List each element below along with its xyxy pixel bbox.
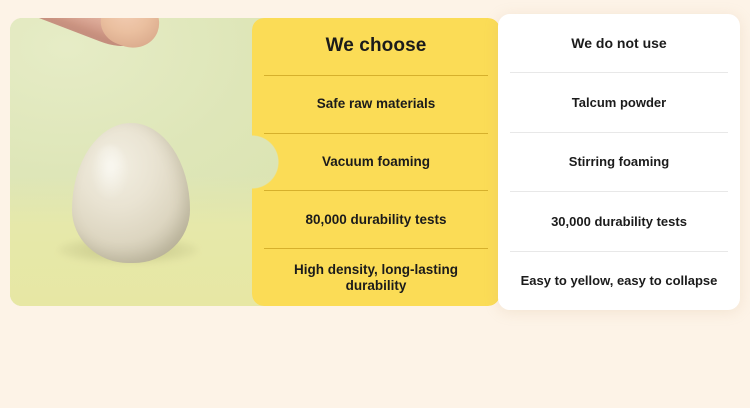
pressing-finger bbox=[10, 18, 165, 58]
we-do-not-use-item-4: Easy to yellow, easy to collapse bbox=[519, 273, 720, 288]
we-do-not-use-item-row-3: 30,000 durability tests bbox=[510, 191, 728, 250]
we-do-not-use-item-row-1: Talcum powder bbox=[510, 72, 728, 131]
we-choose-item-3: 80,000 durability tests bbox=[303, 212, 448, 228]
comparison-infographic: We choose Safe raw materials Vacuum foam… bbox=[0, 0, 750, 408]
we-do-not-use-rows: We do not use Talcum powder Stirring foa… bbox=[498, 14, 740, 310]
we-do-not-use-item-1: Talcum powder bbox=[570, 95, 668, 110]
we-choose-card: We choose Safe raw materials Vacuum foam… bbox=[252, 18, 500, 306]
we-choose-title-row: We choose bbox=[264, 18, 488, 75]
we-choose-item-row-2: Vacuum foaming bbox=[264, 133, 488, 191]
fingertip bbox=[94, 18, 167, 56]
finger-group bbox=[10, 18, 220, 138]
we-choose-item-row-3: 80,000 durability tests bbox=[264, 190, 488, 248]
we-do-not-use-item-row-2: Stirring foaming bbox=[510, 132, 728, 191]
we-do-not-use-item-3: 30,000 durability tests bbox=[549, 214, 689, 229]
we-do-not-use-title: We do not use bbox=[569, 35, 668, 52]
we-choose-title: We choose bbox=[324, 35, 429, 57]
egg-highlight bbox=[92, 145, 128, 199]
we-choose-item-row-4: High density, long-lasting durability bbox=[264, 248, 488, 306]
we-do-not-use-title-row: We do not use bbox=[510, 14, 728, 72]
we-do-not-use-card: We do not use Talcum powder Stirring foa… bbox=[498, 14, 740, 310]
we-do-not-use-item-row-4: Easy to yellow, easy to collapse bbox=[510, 251, 728, 310]
product-photo-card bbox=[10, 18, 290, 306]
we-do-not-use-item-2: Stirring foaming bbox=[567, 154, 671, 169]
we-choose-item-1: Safe raw materials bbox=[315, 96, 438, 112]
we-choose-item-row-1: Safe raw materials bbox=[264, 75, 488, 133]
we-choose-item-2: Vacuum foaming bbox=[320, 154, 432, 170]
we-choose-rows: We choose Safe raw materials Vacuum foam… bbox=[252, 18, 500, 306]
we-choose-item-4: High density, long-lasting durability bbox=[264, 262, 488, 294]
